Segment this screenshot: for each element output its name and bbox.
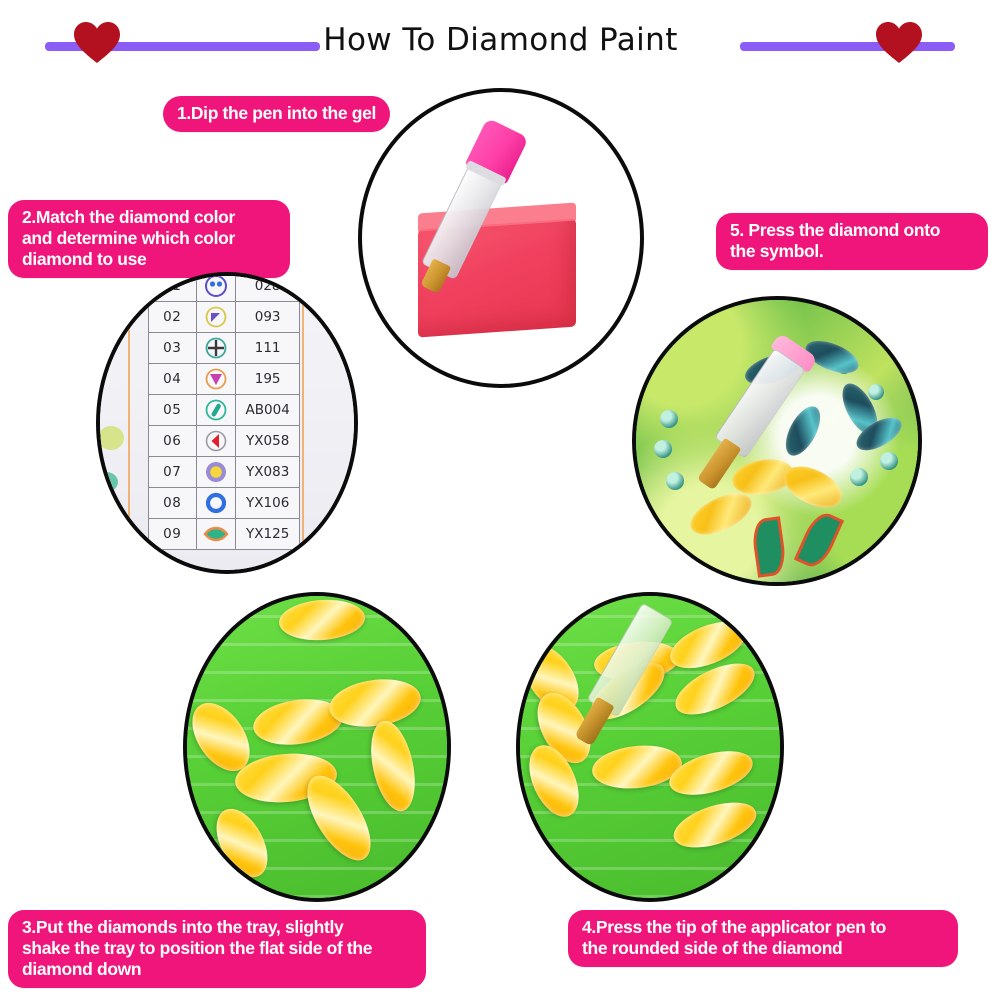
table-row: 02 093 xyxy=(149,302,300,333)
double-dot-circle-icon xyxy=(197,272,236,301)
infographic-root: How To Diamond Paint 1.Dip the pen into … xyxy=(0,0,1001,1001)
table-row: 05 AB004 xyxy=(149,395,300,426)
chart-cell-code: 028 xyxy=(236,272,300,302)
leaf-marquise-icon xyxy=(197,520,236,549)
chart-cell-code: YX125 xyxy=(236,519,300,550)
chart-margin-line-left xyxy=(128,276,130,570)
chart-cell-symbol xyxy=(196,272,236,302)
page-title: How To Diamond Paint xyxy=(0,22,1001,58)
chart-margin-line-right xyxy=(302,276,304,570)
round-gem xyxy=(660,410,678,428)
chart-cell-no: 05 xyxy=(149,395,197,426)
table-row: 08 YX106 xyxy=(149,488,300,519)
chart-cell-symbol xyxy=(196,426,236,457)
chart-cell-symbol xyxy=(196,395,236,426)
photo-symbol-chart: 01 028 02 093 xyxy=(96,272,358,574)
photo-diamonds-in-tray xyxy=(183,592,451,902)
table-row: 01 028 xyxy=(149,272,300,302)
canvas-color-blob-a xyxy=(98,426,124,450)
chart-cell-code: YX058 xyxy=(236,426,300,457)
chart-cell-no: 09 xyxy=(149,519,197,550)
table-row: 07 YX083 xyxy=(149,457,300,488)
chart-cell-symbol xyxy=(196,519,236,550)
chart-cell-symbol xyxy=(196,302,236,333)
round-gem xyxy=(666,472,684,490)
table-row: 06 YX058 xyxy=(149,426,300,457)
photo-pressing-diamond-onto-canvas xyxy=(632,296,922,586)
triangle-down-icon xyxy=(197,365,236,394)
header: How To Diamond Paint xyxy=(0,0,1001,80)
round-gem xyxy=(654,440,672,458)
chart-cell-no: 01 xyxy=(149,272,197,302)
slash-bar-icon xyxy=(197,396,236,425)
step-2-label: 2.Match the diamond color and determine … xyxy=(8,200,290,278)
chart-cell-symbol xyxy=(196,364,236,395)
round-gem xyxy=(850,468,868,486)
left-arrow-icon xyxy=(197,427,236,456)
open-ring-icon xyxy=(197,489,236,518)
chart-cell-no: 07 xyxy=(149,457,197,488)
chart-cell-code: YX106 xyxy=(236,488,300,519)
table-row: 09 YX125 xyxy=(149,519,300,550)
symbol-chart-table: 01 028 02 093 xyxy=(148,272,300,550)
photo-pen-picking-diamond xyxy=(516,592,784,902)
chart-cell-no: 06 xyxy=(149,426,197,457)
plus-cross-icon xyxy=(197,334,236,363)
table-row: 04 195 xyxy=(149,364,300,395)
chart-cell-no: 04 xyxy=(149,364,197,395)
step-1-label: 1.Dip the pen into the gel xyxy=(163,96,390,132)
triangle-quarter-icon xyxy=(197,303,236,332)
photo-pen-dipping-into-gel xyxy=(358,88,644,388)
table-row: 03 111 xyxy=(149,333,300,364)
chart-cell-code: 093 xyxy=(236,302,300,333)
chart-cell-code: 195 xyxy=(236,364,300,395)
step-4-label: 4.Press the tip of the applicator pen to… xyxy=(568,910,958,967)
chart-cell-no: 08 xyxy=(149,488,197,519)
chart-cell-symbol xyxy=(196,457,236,488)
chart-cell-no: 03 xyxy=(149,333,197,364)
step-5-label: 5. Press the diamond onto the symbol. xyxy=(716,213,988,270)
chart-cell-code: AB004 xyxy=(236,395,300,426)
chart-cell-code: YX083 xyxy=(236,457,300,488)
round-gem xyxy=(868,384,884,400)
chart-cell-no: 02 xyxy=(149,302,197,333)
chart-cell-code: 111 xyxy=(236,333,300,364)
round-gem xyxy=(880,452,898,470)
chart-cell-symbol xyxy=(196,333,236,364)
chart-cell-symbol xyxy=(196,488,236,519)
filled-dot-icon xyxy=(197,458,236,487)
step-3-label: 3.Put the diamonds into the tray, slight… xyxy=(8,910,426,988)
